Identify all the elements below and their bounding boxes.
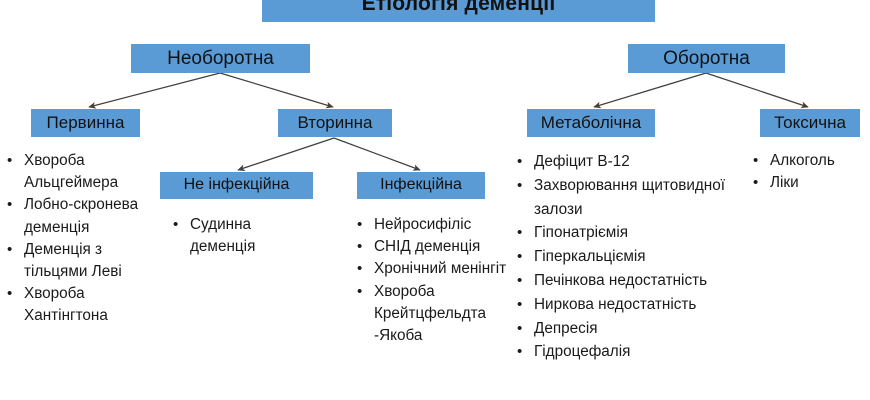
node-primary[interactable]: Первинна	[31, 109, 140, 137]
arrow-reversible-to-toxic	[706, 73, 808, 107]
list-item: Ліки	[748, 172, 868, 194]
list-toxic-causes: АлкогольЛіки	[748, 150, 868, 194]
list-item: Хронічний менінгіт	[352, 258, 512, 280]
list-item: Деменція з тільцями Леві	[2, 239, 162, 283]
list-item: Дефіцит В-12	[512, 150, 752, 174]
list-item: Алкоголь	[748, 150, 868, 172]
list-infectious-causes: НейросифілісСНІД деменціяХронічний менін…	[352, 214, 512, 347]
list-item: Печінкова недостатність	[512, 269, 752, 293]
list-item: Ниркова недостатність	[512, 293, 752, 317]
list-item: Хвороба Хантінгтона	[2, 283, 162, 327]
node-infectious[interactable]: Інфекційна	[357, 172, 485, 199]
list-noninfectious-causes: Судинна деменція	[168, 214, 318, 258]
arrow-reversible-to-metabolic	[594, 73, 706, 107]
list-item: СНІД деменція	[352, 236, 512, 258]
list-item: Лобно-скронева деменція	[2, 194, 162, 238]
node-primary-label: Первинна	[47, 114, 125, 132]
list-item: Гіпонатріємія	[512, 221, 752, 245]
page-title: Етіологія деменції	[362, 0, 556, 15]
dementia-etiology-diagram: Етіологія деменції Необоротна Оборотна П…	[0, 0, 870, 400]
list-metabolic-causes: Дефіцит В-12Захворювання щитовидної зало…	[512, 150, 752, 364]
node-reversible[interactable]: Оборотна	[628, 44, 785, 73]
list-item: Гідроцефалія	[512, 340, 752, 364]
node-toxic-label: Токсична	[774, 114, 846, 132]
list-item: Депресія	[512, 317, 752, 341]
node-metabolic[interactable]: Метаболічна	[527, 109, 655, 137]
list-item: Судинна деменція	[168, 214, 318, 258]
node-metabolic-label: Метаболічна	[541, 114, 642, 132]
node-secondary[interactable]: Вторинна	[278, 109, 392, 137]
arrow-secondary-to-infectious	[334, 138, 420, 170]
diagram-title-box: Етіологія деменції	[262, 0, 655, 22]
node-irreversible-label: Необоротна	[167, 49, 274, 69]
node-toxic[interactable]: Токсична	[760, 109, 860, 137]
arrow-irreversible-to-primary	[89, 73, 220, 107]
list-item: Хвороба Крейтцфельдта -Якоба	[352, 281, 512, 348]
arrow-irreversible-to-secondary	[220, 73, 333, 107]
node-noninfectious-label: Не інфекційна	[184, 177, 290, 194]
list-item: Нейросифіліс	[352, 214, 512, 236]
node-reversible-label: Оборотна	[663, 49, 750, 69]
node-secondary-label: Вторинна	[297, 114, 372, 132]
node-infectious-label: Інфекційна	[380, 177, 462, 194]
arrow-secondary-to-noninfectious	[238, 138, 334, 170]
node-noninfectious[interactable]: Не інфекційна	[160, 172, 313, 199]
list-item: Хвороба Альцгеймера	[2, 150, 162, 194]
list-item: Гіперкальціємія	[512, 245, 752, 269]
list-item: Захворювання щитовидної залози	[512, 174, 752, 222]
node-irreversible[interactable]: Необоротна	[131, 44, 310, 73]
list-primary-dementias: Хвороба АльцгеймераЛобно-скронева деменц…	[2, 150, 162, 328]
